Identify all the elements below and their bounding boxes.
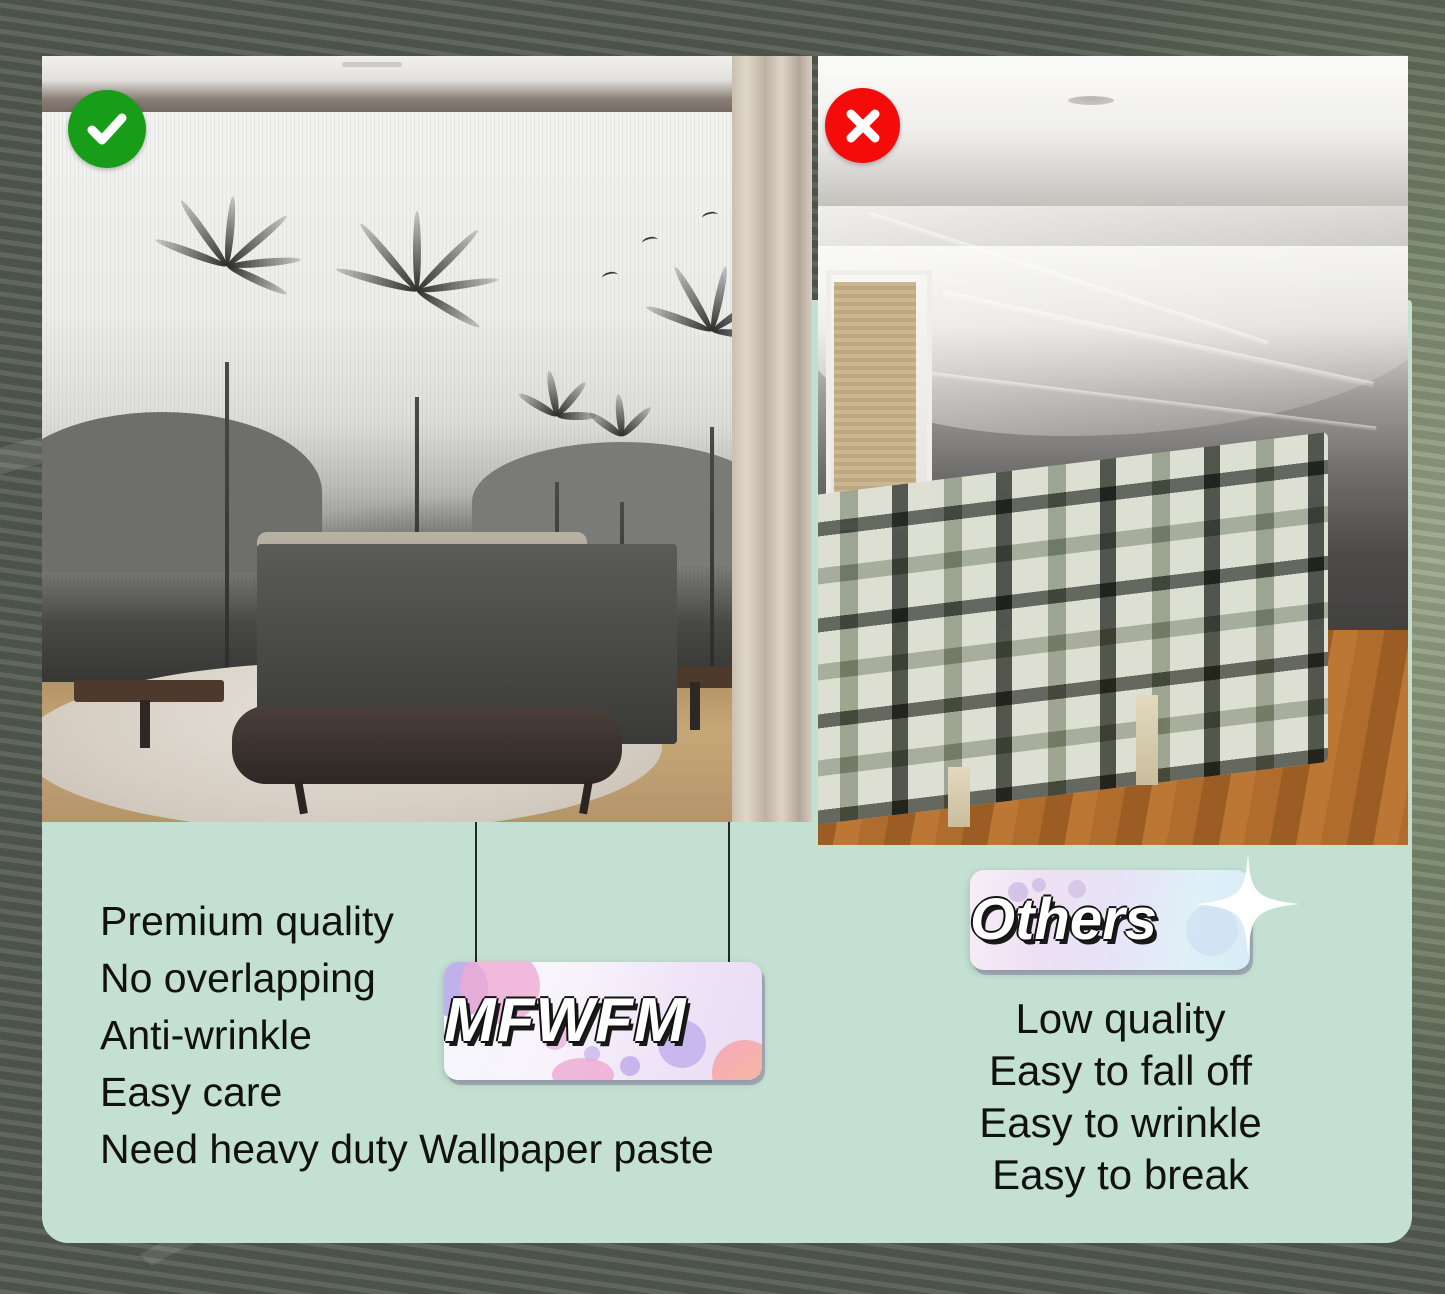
feature-item: Premium quality <box>100 893 800 950</box>
competitor-badge-others[interactable]: Others <box>970 870 1250 970</box>
bad-product-photo <box>818 56 1408 845</box>
window-blind <box>834 282 916 492</box>
bed-leg <box>948 767 970 827</box>
drawback-item: Low quality <box>948 993 1293 1045</box>
plaid-bed <box>818 432 1328 828</box>
bird-silhouette <box>601 270 619 282</box>
brand-badge-label: MFWFM <box>444 986 687 1055</box>
drawback-item: Easy to break <box>948 1149 1293 1201</box>
drawback-list: Low quality Easy to fall off Easy to wri… <box>948 993 1293 1201</box>
drawback-item: Easy to wrinkle <box>948 1097 1293 1149</box>
nightstand-leg <box>690 682 700 730</box>
check-circle-icon <box>68 90 146 168</box>
competitor-badge-label: Others <box>970 887 1157 952</box>
drawback-item: Easy to fall off <box>948 1045 1293 1097</box>
ceiling <box>42 56 812 116</box>
good-product-photo <box>42 56 812 822</box>
bird-silhouette <box>701 210 719 222</box>
nightstand-left <box>74 680 224 702</box>
bench-ottoman <box>232 706 622 784</box>
window-curtain <box>732 56 812 822</box>
bed-leg <box>1136 695 1158 785</box>
badge-blob <box>1186 904 1238 956</box>
bird-silhouette <box>641 235 659 247</box>
feature-item: Need heavy duty Wallpaper paste <box>100 1121 800 1178</box>
feature-item: Easy care <box>100 1064 800 1121</box>
x-circle-icon <box>825 88 900 163</box>
nightstand-leg <box>140 700 150 748</box>
infographic-root: MFWFM Others Premium quality No overlapp… <box>0 0 1445 1294</box>
